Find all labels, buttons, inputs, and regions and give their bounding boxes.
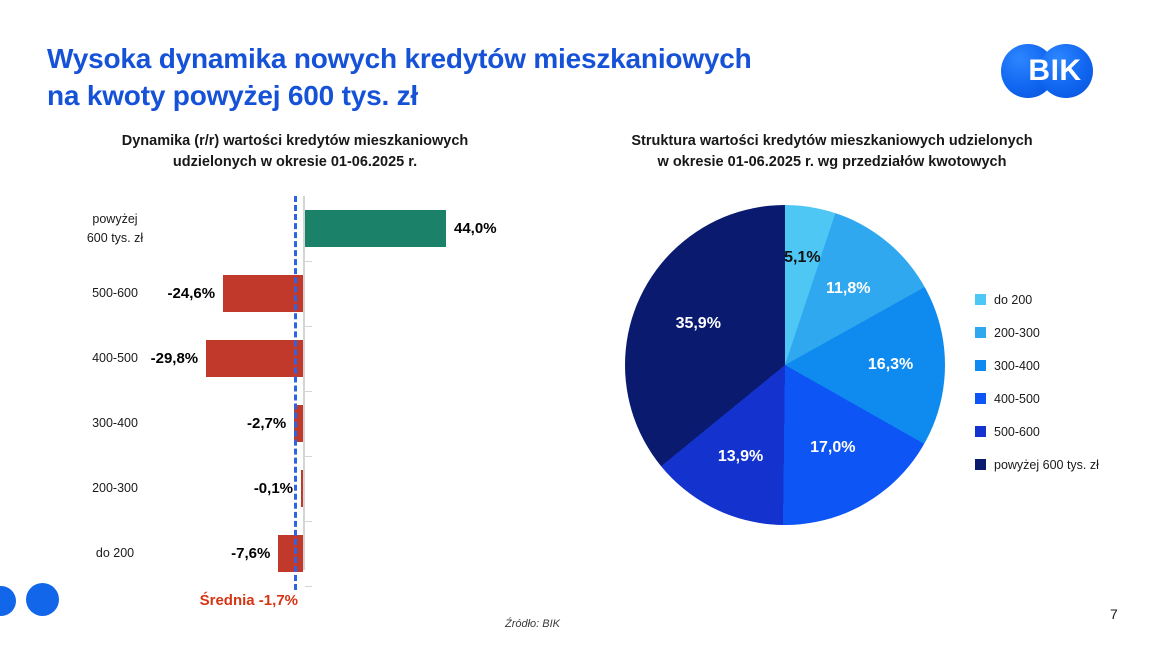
bar-category-label-line: do 200 <box>96 544 134 562</box>
pie-slice-label: 5,1% <box>784 249 820 267</box>
axis-tick <box>305 456 312 457</box>
bar-value-label: -7,6% <box>200 521 270 586</box>
bar-chart: powyżej600 tys. zł44,0%500-600-24,6%400-… <box>50 196 550 586</box>
decorative-circle-2 <box>26 583 59 616</box>
bar-value-label: -24,6% <box>145 261 215 326</box>
average-reference-line <box>294 196 297 590</box>
legend-swatch <box>975 426 986 437</box>
legend-item[interactable]: powyżej 600 tys. zł <box>975 448 1145 481</box>
pie-slice-label: 16,3% <box>868 356 913 374</box>
bar-category-label: powyżej600 tys. zł <box>50 196 180 261</box>
bar-segment <box>223 275 303 312</box>
source-note: Źródło: BIK <box>505 618 560 630</box>
bar-category-label: do 200 <box>50 521 180 586</box>
bar-chart-title: Dynamika (r/r) wartości kredytów mieszka… <box>60 131 530 173</box>
pie-chart: 5,1%11,8%16,3%17,0%13,9%35,9% <box>625 205 945 525</box>
legend-label: 300-400 <box>994 359 1040 373</box>
pie-slice-label: 17,0% <box>810 439 855 457</box>
legend-label: powyżej 600 tys. zł <box>994 458 1099 472</box>
decorative-circle-1 <box>0 586 16 616</box>
bar-segment <box>303 210 446 247</box>
bar-category-label: 300-400 <box>50 391 180 456</box>
bar-category-label-line: 600 tys. zł <box>87 229 143 247</box>
bar-row: powyżej600 tys. zł44,0% <box>50 196 550 261</box>
bar-value-label: -29,8% <box>128 326 198 391</box>
bar-chart-zero-axis <box>303 196 305 570</box>
pie-slice-label: 11,8% <box>826 280 870 298</box>
legend-item[interactable]: 300-400 <box>975 349 1145 382</box>
bar-category-label-line: 200-300 <box>92 479 138 497</box>
bar-segment <box>278 535 303 572</box>
legend-swatch <box>975 459 986 470</box>
slide: Wysoka dynamika nowych kredytów mieszkan… <box>0 0 1151 646</box>
bar-category-label-line: powyżej <box>92 210 137 228</box>
pie-slice-label: 35,9% <box>676 315 721 333</box>
bar-category-label: 200-300 <box>50 456 180 521</box>
legend-item[interactable]: 200-300 <box>975 316 1145 349</box>
bar-category-label-line: 300-400 <box>92 414 138 432</box>
legend-swatch <box>975 294 986 305</box>
page-number: 7 <box>1110 606 1118 622</box>
pie-chart-title: Struktura wartości kredytów mieszkaniowy… <box>572 131 1092 173</box>
bar-chart-title-line-2: udzielonych w okresie 01-06.2025 r. <box>60 152 530 173</box>
average-label: Średnia -1,7% <box>138 592 298 609</box>
pie-chart-title-line-1: Struktura wartości kredytów mieszkaniowy… <box>572 131 1092 152</box>
pie-slice-label: 13,9% <box>718 448 763 466</box>
bar-value-label: 44,0% <box>454 196 497 261</box>
page-title-line-1: Wysoka dynamika nowych kredytów mieszkan… <box>47 40 847 77</box>
axis-tick <box>305 326 312 327</box>
bar-row: 400-500-29,8% <box>50 326 550 391</box>
page-title: Wysoka dynamika nowych kredytów mieszkan… <box>47 40 847 114</box>
legend-label: 400-500 <box>994 392 1040 406</box>
logo-text: BIK <box>1001 44 1109 98</box>
legend-swatch <box>975 327 986 338</box>
axis-tick <box>305 391 312 392</box>
bar-row: 500-600-24,6% <box>50 261 550 326</box>
bar-row: 200-300-0,1% <box>50 456 550 521</box>
legend-label: do 200 <box>994 293 1032 307</box>
legend-item[interactable]: 500-600 <box>975 415 1145 448</box>
bar-category-label-line: 500-600 <box>92 284 138 302</box>
page-title-line-2: na kwoty powyżej 600 tys. zł <box>47 77 847 114</box>
pie-chart-title-line-2: w okresie 01-06.2025 r. wg przedziałów k… <box>572 152 1092 173</box>
bar-value-label: -0,1% <box>223 456 293 521</box>
legend-label: 200-300 <box>994 326 1040 340</box>
legend-item[interactable]: do 200 <box>975 283 1145 316</box>
legend-item[interactable]: 400-500 <box>975 382 1145 415</box>
bik-logo: BIK <box>1001 44 1109 98</box>
bar-row: do 200-7,6% <box>50 521 550 586</box>
bar-value-label: -2,7% <box>216 391 286 456</box>
axis-tick <box>305 261 312 262</box>
bar-segment <box>206 340 303 377</box>
axis-tick <box>305 586 312 587</box>
axis-tick <box>305 521 312 522</box>
legend-swatch <box>975 360 986 371</box>
legend-label: 500-600 <box>994 425 1040 439</box>
legend-swatch <box>975 393 986 404</box>
bar-chart-title-line-1: Dynamika (r/r) wartości kredytów mieszka… <box>60 131 530 152</box>
pie-chart-legend: do 200200-300300-400400-500500-600powyże… <box>975 283 1145 481</box>
bar-row: 300-400-2,7% <box>50 391 550 456</box>
